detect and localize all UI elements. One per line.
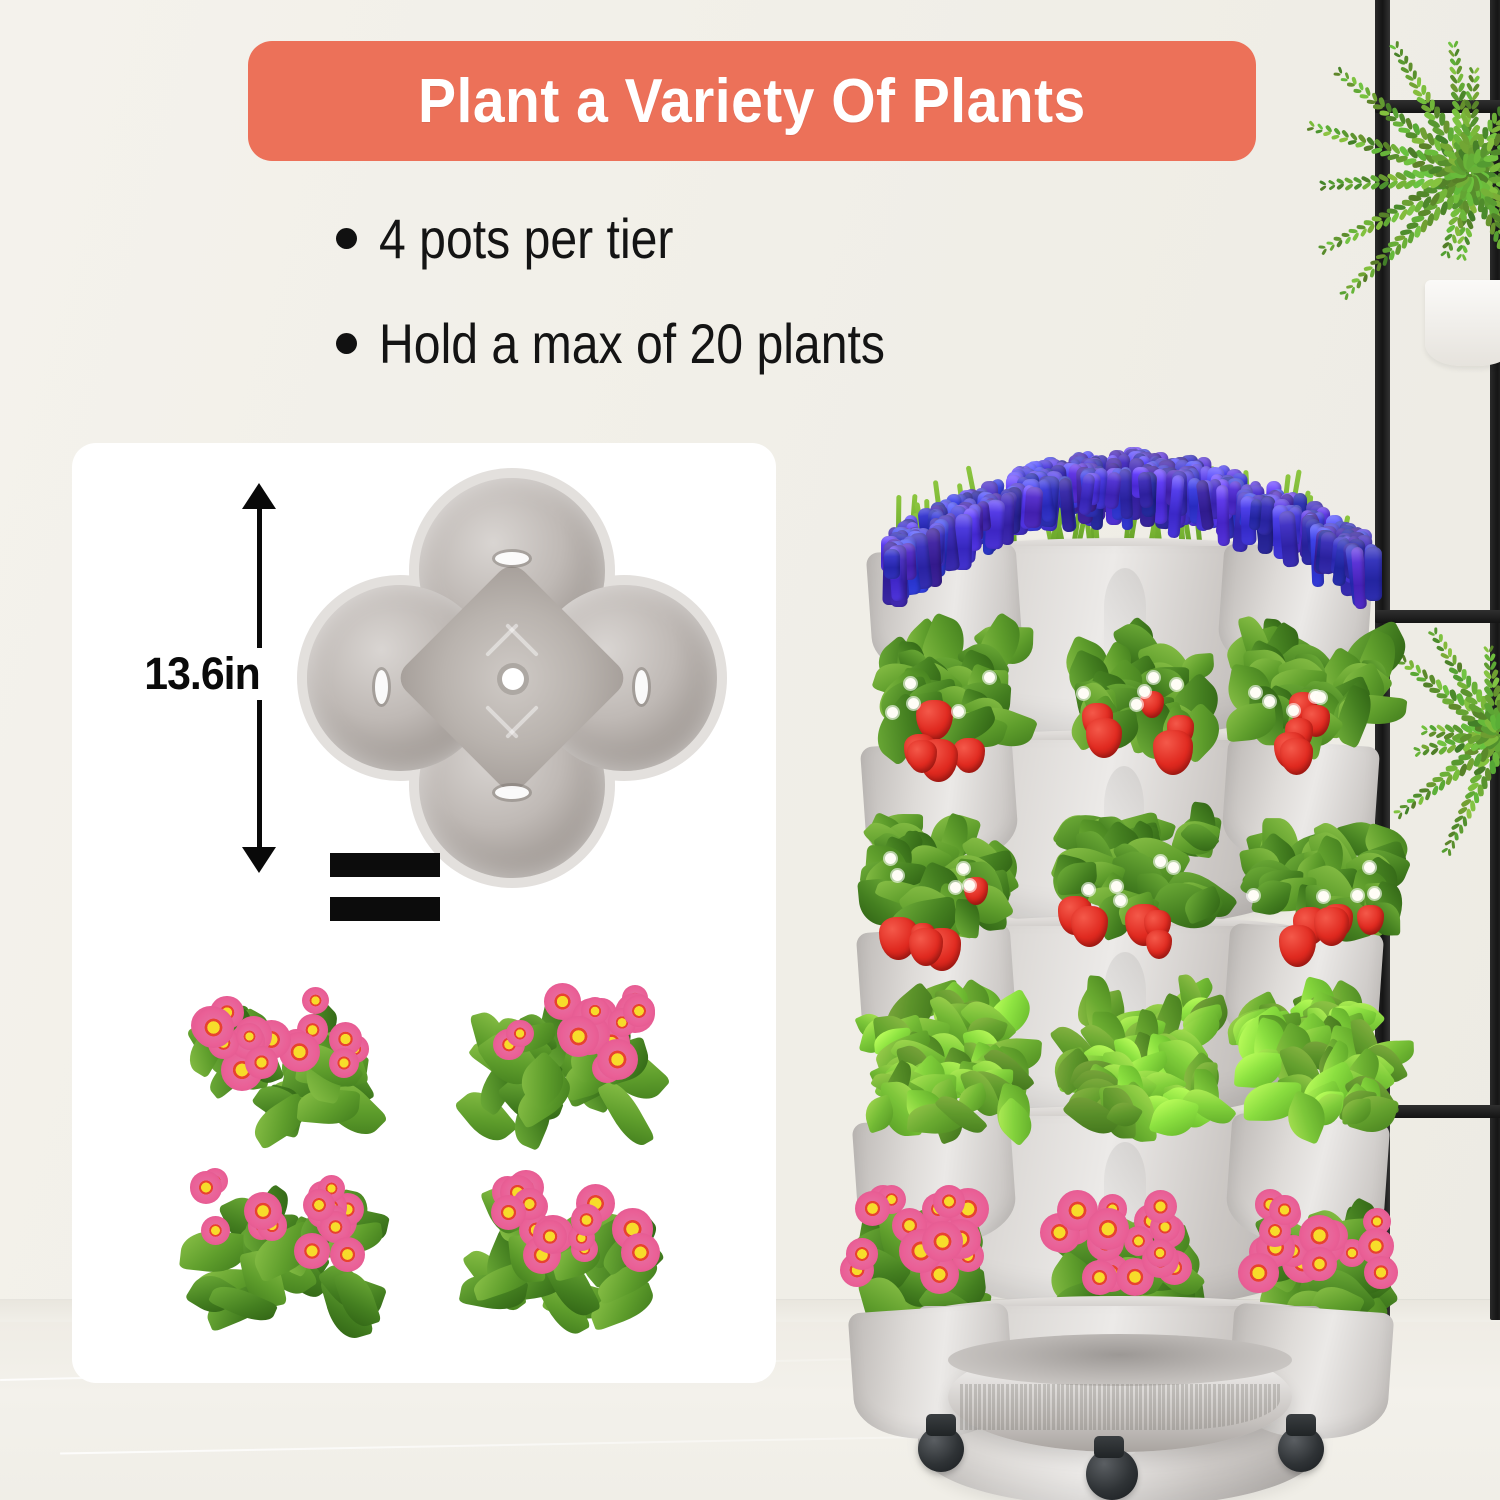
caddy-rib — [1061, 1384, 1064, 1430]
bullet-dot-icon — [336, 333, 357, 354]
primrose-flower — [1364, 1256, 1398, 1290]
pink-primrose-cluster-4 — [457, 1158, 667, 1308]
pink-primrose-cluster-3 — [177, 1158, 387, 1308]
primrose-flower — [190, 1171, 223, 1204]
primrose-flower — [245, 1046, 278, 1079]
caddy-rib — [1084, 1384, 1087, 1430]
strawberry-blossom — [885, 853, 896, 864]
hyacinth-spike — [1024, 486, 1043, 528]
caddy-rib — [1075, 1384, 1078, 1430]
pot-top-view — [297, 468, 727, 888]
equals-bar — [330, 853, 440, 877]
caddy-rib — [983, 1384, 986, 1430]
strawberry-blossom — [1139, 686, 1150, 697]
caddy-rib — [1190, 1384, 1193, 1430]
caddy-rib — [1034, 1384, 1037, 1430]
caddy-rib — [965, 1384, 968, 1430]
equals-symbol — [330, 853, 440, 921]
caddy-rib — [1080, 1384, 1083, 1430]
caddy-rib — [1038, 1384, 1041, 1430]
caddy-rib — [1236, 1384, 1239, 1430]
primrose-flower — [1087, 1208, 1129, 1250]
stackable-planter-tower — [840, 430, 1400, 1500]
strawberry-plant-row-2 — [846, 812, 1394, 948]
caddy-rib — [1001, 1384, 1004, 1430]
caddy-rib — [1024, 1384, 1027, 1430]
caddy-rib — [1098, 1384, 1101, 1430]
primrose-flower — [1238, 1253, 1279, 1294]
feature-bullet-list: 4 pots per tier Hold a max of 20 plants — [336, 206, 1166, 416]
caddy-ribbing — [960, 1384, 1280, 1430]
caddy-rib — [1241, 1384, 1244, 1430]
caddy-rib — [1029, 1384, 1032, 1430]
caddy-rib — [1047, 1384, 1050, 1430]
caddy-rib — [1158, 1384, 1161, 1430]
caddy-rib — [1204, 1384, 1207, 1430]
caddy-rib — [1153, 1384, 1156, 1430]
caster-wheel-front — [1086, 1448, 1138, 1500]
caddy-rib — [1218, 1384, 1221, 1430]
caddy-rib — [1167, 1384, 1170, 1430]
arrow-down-icon — [242, 847, 276, 873]
caddy-rib — [1245, 1384, 1248, 1430]
caddy-rib — [992, 1384, 995, 1430]
caddy-rib — [1066, 1384, 1069, 1430]
caddy-rib — [1199, 1384, 1202, 1430]
hyacinth-spike — [884, 549, 901, 579]
strawberry-blossom — [1264, 696, 1275, 707]
primrose-flower — [303, 1189, 335, 1221]
drainage-slot-bottom — [495, 786, 529, 799]
strawberry-blossom — [1369, 888, 1380, 899]
primrose-flower — [1144, 1190, 1177, 1223]
primrose-flower — [1082, 1260, 1117, 1295]
primrose-flower — [597, 1039, 638, 1080]
caddy-rib — [1181, 1384, 1184, 1430]
caddy-rib — [1006, 1384, 1009, 1430]
strawberry-blossom — [905, 678, 916, 689]
strawberry-blossom — [908, 698, 919, 709]
strawberry-blossom — [958, 863, 969, 874]
strawberry-blossom — [1131, 699, 1142, 710]
primrose-flower — [329, 1048, 359, 1078]
caddy-rib — [1227, 1384, 1230, 1430]
bullet-text: Hold a max of 20 plants — [379, 311, 885, 376]
strawberry-blossom — [1364, 862, 1375, 873]
drainage-slot-left — [375, 670, 388, 704]
caddy-rib — [1268, 1384, 1271, 1430]
caddy-rib — [1130, 1384, 1133, 1430]
caddy-rib — [1020, 1384, 1023, 1430]
strawberry-plant-row-1 — [858, 626, 1382, 756]
caddy-rib — [974, 1384, 977, 1430]
caddy-rib — [1103, 1384, 1106, 1430]
caddy-rib — [1144, 1384, 1147, 1430]
caddy-rib — [1231, 1384, 1234, 1430]
drainage-slot-top — [495, 552, 529, 565]
caddy-rib — [1052, 1384, 1055, 1430]
primrose-flower — [1146, 1239, 1174, 1267]
strawberry-blossom — [964, 880, 975, 891]
caddy-rib — [1089, 1384, 1092, 1430]
title-banner: Plant a Variety Of Plants — [248, 41, 1256, 161]
dimension-label: 13.6in — [83, 648, 321, 700]
primrose-flower — [1302, 1247, 1336, 1281]
primrose-flower — [571, 1204, 603, 1236]
caddy-rib — [1185, 1384, 1188, 1430]
strawberry-blossom — [984, 672, 995, 683]
caster-fork — [1286, 1414, 1316, 1436]
strawberry-blossom — [887, 707, 898, 718]
caddy-rib — [1254, 1384, 1257, 1430]
caster-fork — [926, 1414, 956, 1436]
strawberry-blossom — [950, 882, 961, 893]
caster-wheel-left — [918, 1426, 964, 1472]
caddy-inner-basin — [948, 1334, 1292, 1386]
primrose-flower — [623, 995, 654, 1026]
primrose-flower — [506, 1020, 533, 1047]
pink-primrose-cluster-2 — [457, 973, 667, 1123]
primrose-flower — [621, 1233, 660, 1272]
bullet-text: 4 pots per tier — [379, 206, 673, 271]
caddy-rib — [1126, 1384, 1129, 1430]
primrose-flower — [933, 1185, 966, 1218]
list-item: 4 pots per tier — [336, 206, 1166, 271]
drainage-slot-right — [635, 670, 648, 704]
hyacinth-spike — [1365, 547, 1382, 601]
caster-wheel-right — [1278, 1426, 1324, 1472]
caddy-rib — [969, 1384, 972, 1430]
caddy-rib — [1112, 1384, 1115, 1430]
caddy-rib — [1172, 1384, 1175, 1430]
primrose-flower — [922, 1221, 963, 1262]
primrose-flower — [201, 1216, 230, 1245]
hyacinth-spike — [1216, 484, 1230, 545]
primrose-flower — [558, 1016, 599, 1057]
caddy-rib — [1070, 1384, 1073, 1430]
caddy-rib — [1208, 1384, 1211, 1430]
primrose-flower — [193, 1007, 234, 1048]
caddy-rib — [960, 1384, 963, 1430]
caddy-rib — [1195, 1384, 1198, 1430]
primrose-flower — [846, 1238, 877, 1269]
caddy-rib — [1259, 1384, 1262, 1430]
strawberry-blossom — [1171, 679, 1182, 690]
primrose-flower — [533, 1220, 566, 1253]
caddy-rib — [988, 1384, 991, 1430]
caddy-rib — [1277, 1384, 1280, 1430]
caddy-rib — [1222, 1384, 1225, 1430]
caddy-rib — [1107, 1384, 1110, 1430]
caddy-rib — [1011, 1384, 1014, 1430]
caster-fork — [1094, 1436, 1124, 1458]
caddy-rib — [1043, 1384, 1046, 1430]
caddy-rib — [1135, 1384, 1138, 1430]
caddy-rib — [1015, 1384, 1018, 1430]
bullet-dot-icon — [336, 228, 357, 249]
caddy-rib — [1139, 1384, 1142, 1430]
caddy-rib — [1213, 1384, 1216, 1430]
caddy-rib — [1149, 1384, 1152, 1430]
center-drain-hole — [502, 668, 524, 690]
caddy-rib — [1057, 1384, 1060, 1430]
list-item: Hold a max of 20 plants — [336, 311, 1166, 376]
caddy-rib — [1264, 1384, 1267, 1430]
primrose-flower — [330, 1237, 365, 1272]
caddy-rib — [1162, 1384, 1165, 1430]
page-title: Plant a Variety Of Plants — [418, 66, 1086, 137]
basil-plant-row — [854, 986, 1386, 1126]
caddy-rib — [1273, 1384, 1276, 1430]
caddy-rib — [997, 1384, 1000, 1430]
info-card: 13.6in — [72, 443, 776, 1383]
caddy-rib — [1121, 1384, 1124, 1430]
pink-primrose-cluster-1 — [177, 973, 387, 1123]
caddy-rib — [978, 1384, 981, 1430]
caddy-rib — [1176, 1384, 1179, 1430]
strawberry-blossom — [1352, 890, 1363, 901]
equals-bar — [330, 897, 440, 921]
caddy-rib — [1116, 1384, 1119, 1430]
caddy-rib — [1093, 1384, 1096, 1430]
primrose-flower — [491, 1195, 526, 1230]
caddy-rib — [1250, 1384, 1253, 1430]
primrose-flower — [1269, 1195, 1299, 1225]
strawberry-blossom — [1111, 881, 1122, 892]
fern-foliage — [1300, 0, 1500, 330]
